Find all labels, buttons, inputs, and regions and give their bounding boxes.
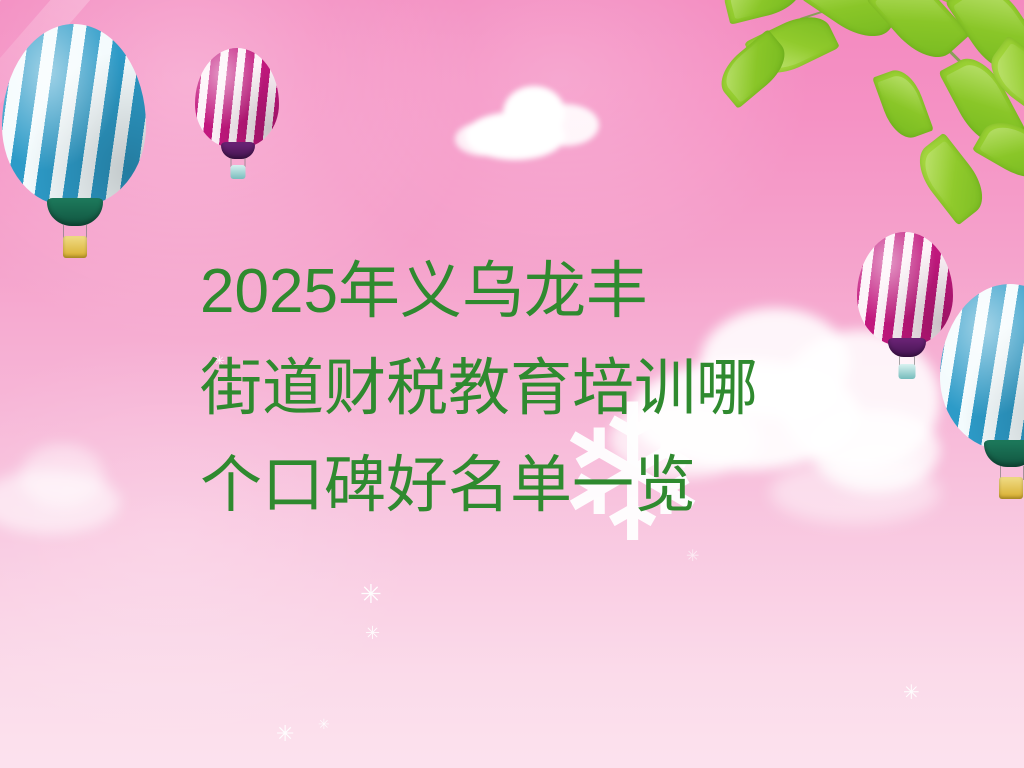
hot-air-balloon-blue-right xyxy=(940,284,1024,494)
balloon-canopy xyxy=(2,24,146,206)
cloud-wisp-left xyxy=(0,430,150,550)
balloon-skirt xyxy=(47,198,103,226)
snowflake-sparkle-4: ✳ xyxy=(318,718,330,732)
balloon-canopy xyxy=(940,284,1024,450)
hot-air-balloon-blue-large-left xyxy=(0,20,150,240)
cloud-small-top-center xyxy=(455,78,605,168)
snowflake-sparkle-6: ✳ xyxy=(686,548,699,564)
hot-air-balloon-magenta-small-left xyxy=(195,48,281,178)
green-leaf-cluster xyxy=(740,0,1024,250)
balloon-basket xyxy=(63,236,87,258)
snowflake-sparkle-2: ✳ xyxy=(365,625,380,643)
leaf xyxy=(872,64,934,143)
poster-headline: 2025年义乌龙丰 街道财税教育培训哪 个口碑好名单一览 xyxy=(200,243,890,534)
balloon-skirt xyxy=(221,142,255,159)
snowflake-sparkle-1: ✳ xyxy=(360,582,382,608)
snowflake-sparkle-5: ✳ xyxy=(903,682,920,702)
snowflake-sparkle-3: ✳ xyxy=(276,724,294,746)
balloon-basket xyxy=(999,477,1023,499)
balloon-basket xyxy=(231,165,246,179)
balloon-skirt xyxy=(888,338,926,357)
poster-canvas: ❄ ✳ ✳ ✳ ✳ ✳ ✳ ✳ 2025年义乌龙丰 街道财税教育培训哪 个口碑好… xyxy=(0,0,1024,768)
balloon-canopy xyxy=(195,48,279,148)
balloon-skirt xyxy=(984,440,1024,467)
balloon-basket xyxy=(899,364,916,379)
